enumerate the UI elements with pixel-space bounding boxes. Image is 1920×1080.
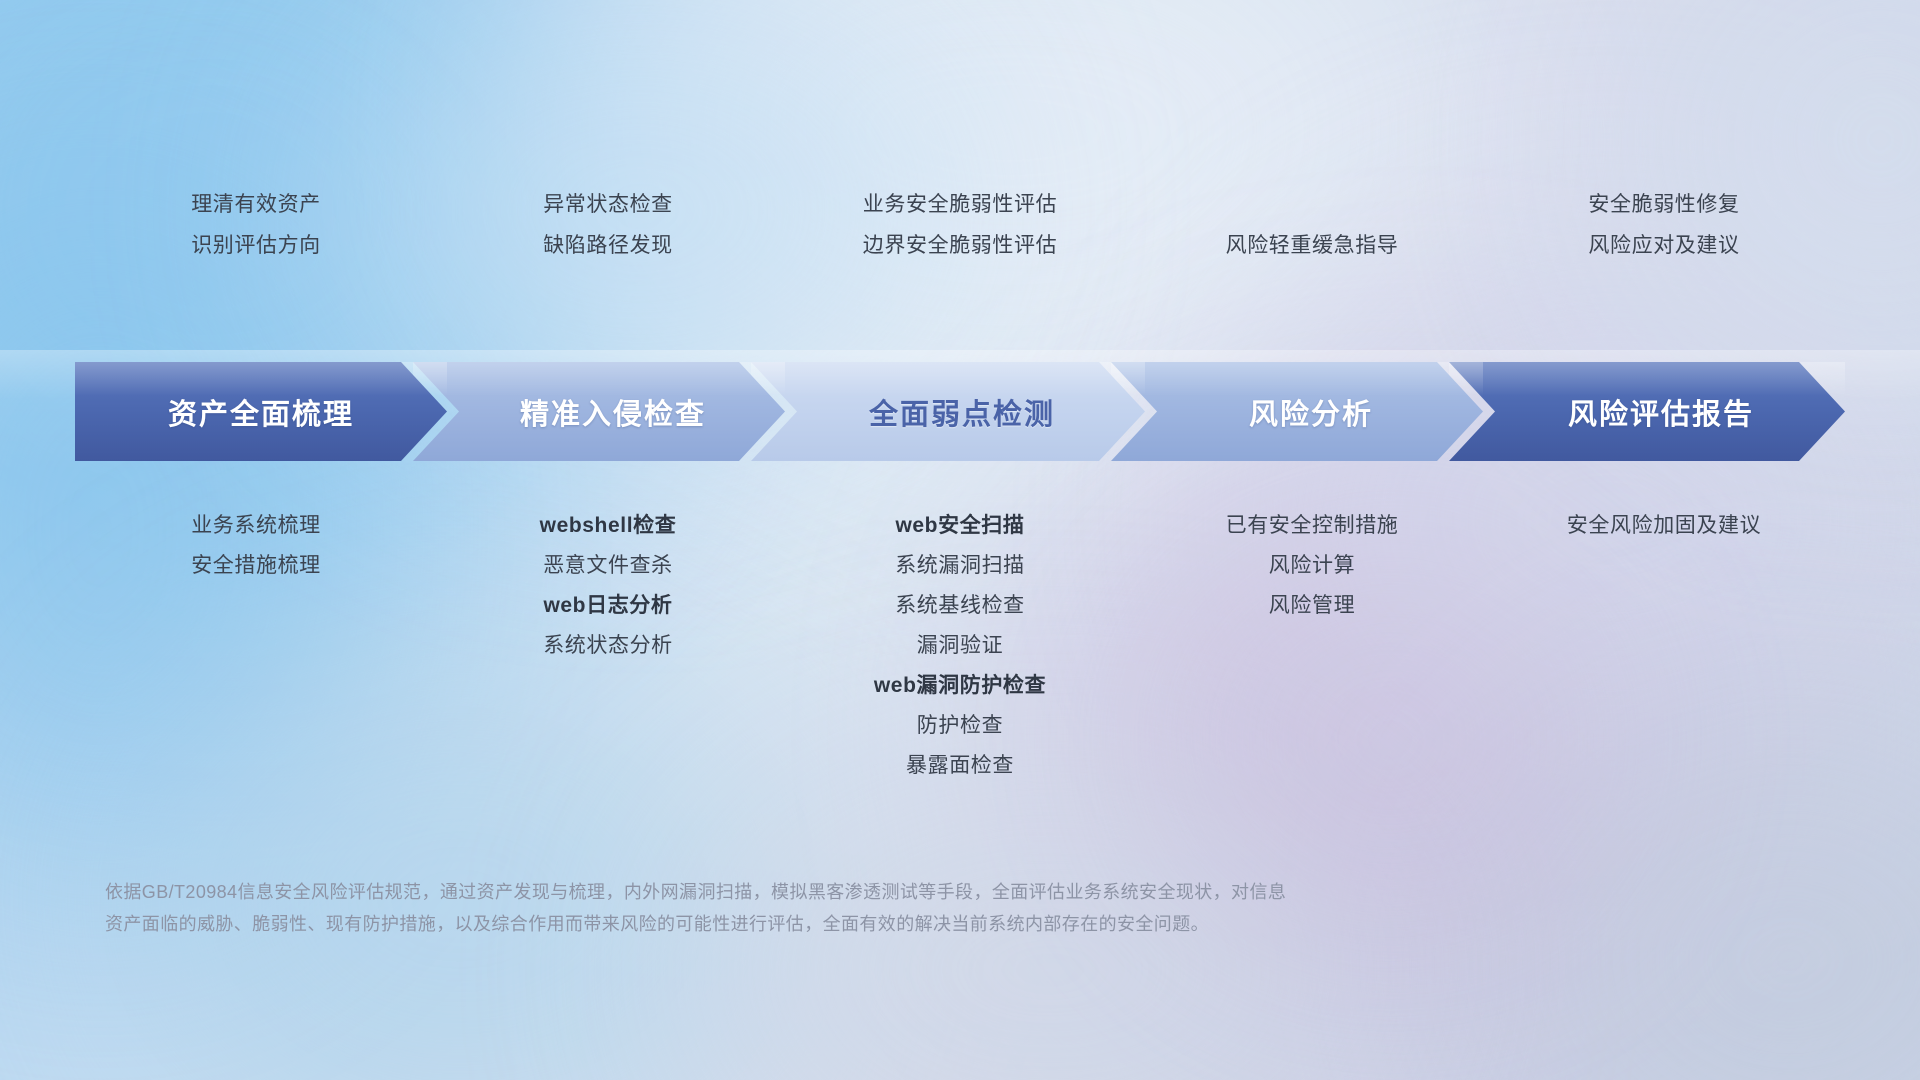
input-label: 异常状态检查: [543, 184, 673, 225]
stage-inputs-3: 业务安全脆弱性评估 边界安全脆弱性评估: [784, 184, 1136, 266]
stage-inputs-row: 理清有效资产 识别评估方向 异常状态检查 缺陷路径发现 业务安全脆弱性评估 边界…: [80, 184, 1840, 266]
output-item: 安全措施梳理: [191, 546, 321, 586]
input-label: 识别评估方向: [191, 225, 321, 266]
stage-arrow-1[interactable]: 资产全面梳理: [75, 362, 447, 461]
footnote-line-1: 依据GB/T20984信息安全风险评估规范，通过资产发现与梳理，内外网漏洞扫描，…: [105, 876, 1465, 908]
output-item: 暴露面检查: [906, 746, 1014, 786]
output-item: 系统状态分析: [543, 626, 673, 666]
stage-inputs-2: 异常状态检查 缺陷路径发现: [432, 184, 784, 266]
stage-outputs-5: 安全风险加固及建议: [1488, 506, 1840, 786]
input-label: 边界安全脆弱性评估: [863, 225, 1057, 266]
input-label: 缺陷路径发现: [543, 225, 673, 266]
output-item: 恶意文件查杀: [543, 546, 673, 586]
output-item: web日志分析: [543, 586, 672, 626]
arrow-band: 资产全面梳理 精准入侵检查 全面弱点检测 风险分析 风险评估报告: [75, 362, 1845, 461]
output-item: web安全扫描: [895, 506, 1024, 546]
input-label: 风险轻重缓急指导: [1226, 225, 1399, 266]
input-label: 理清有效资产: [191, 184, 321, 225]
input-label: 业务安全脆弱性评估: [863, 184, 1057, 225]
stage-arrow-2[interactable]: 精准入侵检查: [413, 362, 785, 461]
footnote: 依据GB/T20984信息安全风险评估规范，通过资产发现与梳理，内外网漏洞扫描，…: [105, 876, 1465, 940]
output-item: 防护检查: [917, 706, 1003, 746]
stage-inputs-1: 理清有效资产 识别评估方向: [80, 184, 432, 266]
output-item: 风险计算: [1269, 546, 1355, 586]
output-item: 风险管理: [1269, 586, 1355, 626]
stage-title: 风险评估报告: [1540, 391, 1754, 433]
stage-title: 精准入侵检查: [492, 391, 706, 433]
process-diagram: 理清有效资产 识别评估方向 异常状态检查 缺陷路径发现 业务安全脆弱性评估 边界…: [0, 0, 1920, 1080]
stage-outputs-row: 业务系统梳理 安全措施梳理 webshell检查 恶意文件查杀 web日志分析 …: [80, 506, 1840, 786]
output-item: 安全风险加固及建议: [1567, 506, 1761, 546]
stage-title: 风险分析: [1221, 391, 1373, 433]
input-label: 安全脆弱性修复: [1588, 184, 1739, 225]
stage-outputs-3: web安全扫描 系统漏洞扫描 系统基线检查 漏洞验证 web漏洞防护检查 防护检…: [784, 506, 1136, 786]
stage-arrow-5[interactable]: 风险评估报告: [1449, 362, 1845, 461]
input-label: 风险应对及建议: [1588, 225, 1739, 266]
stage-outputs-1: 业务系统梳理 安全措施梳理: [80, 506, 432, 786]
output-item: web漏洞防护检查: [874, 666, 1046, 706]
stage-outputs-2: webshell检查 恶意文件查杀 web日志分析 系统状态分析: [432, 506, 784, 786]
output-item: 漏洞验证: [917, 626, 1003, 666]
output-item: webshell检查: [540, 506, 677, 546]
output-item: 业务系统梳理: [191, 506, 321, 546]
output-item: 系统漏洞扫描: [895, 546, 1025, 586]
stage-title: 全面弱点检测: [841, 391, 1055, 433]
footnote-line-2: 资产面临的威胁、脆弱性、现有防护措施，以及综合作用而带来风险的可能性进行评估，全…: [105, 908, 1465, 940]
output-item: 已有安全控制措施: [1226, 506, 1399, 546]
stage-inputs-5: 安全脆弱性修复 风险应对及建议: [1488, 184, 1840, 266]
output-item: 系统基线检查: [895, 586, 1025, 626]
stage-outputs-4: 已有安全控制措施 风险计算 风险管理: [1136, 506, 1488, 786]
stage-inputs-4: 风险轻重缓急指导: [1136, 184, 1488, 266]
stage-arrow-4[interactable]: 风险分析: [1111, 362, 1483, 461]
stage-arrow-3[interactable]: 全面弱点检测: [751, 362, 1145, 461]
stage-title: 资产全面梳理: [168, 391, 354, 433]
